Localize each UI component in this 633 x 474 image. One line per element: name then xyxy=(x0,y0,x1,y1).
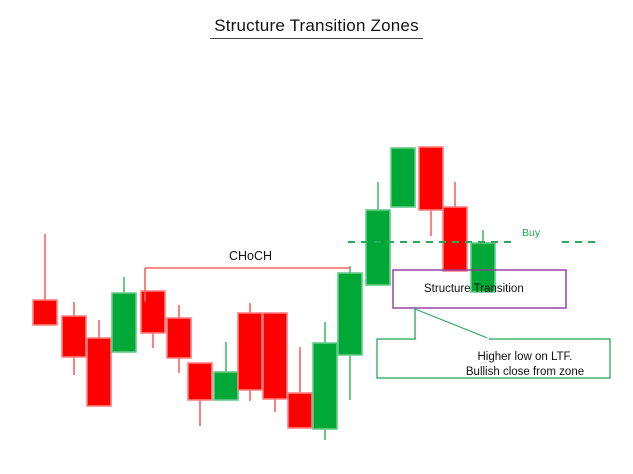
candle-17 xyxy=(443,182,467,271)
candle-body xyxy=(214,372,238,400)
chart-canvas: Structure Transition Zones CHoCH Buy Str… xyxy=(0,0,633,474)
callout-label: Higher low on LTF.Bullish close from zon… xyxy=(410,350,633,380)
candle-body xyxy=(391,148,415,207)
buy-label: Buy xyxy=(522,227,540,239)
callout-line-1: Higher low on LTF. xyxy=(477,351,572,363)
callout-leader xyxy=(415,309,490,339)
candle-body xyxy=(443,207,467,271)
callout-top-gap xyxy=(416,338,489,341)
candle-15 xyxy=(391,148,415,207)
candle-12 xyxy=(313,322,337,440)
candle-body xyxy=(419,147,443,210)
candle-body xyxy=(288,393,312,428)
candle-8 xyxy=(214,342,238,400)
candle-16 xyxy=(419,147,443,236)
callout-line-2: Bullish close from zone xyxy=(466,366,584,378)
candle-10 xyxy=(263,313,287,412)
candle-body xyxy=(62,316,86,357)
candle-body xyxy=(313,343,337,429)
candle-body xyxy=(188,363,212,400)
choch-label: CHoCH xyxy=(229,249,272,263)
candle-body xyxy=(112,293,136,352)
candle-13 xyxy=(338,266,362,400)
candle-4 xyxy=(112,277,136,352)
candle-body xyxy=(366,210,390,285)
candle-2 xyxy=(62,302,86,375)
candle-3 xyxy=(87,320,111,406)
candle-body xyxy=(338,273,362,355)
candle-body xyxy=(263,313,287,399)
candle-body xyxy=(87,338,111,406)
candle-7 xyxy=(188,363,212,426)
candle-14 xyxy=(366,182,390,285)
candle-body xyxy=(238,313,262,390)
candle-body xyxy=(167,318,191,358)
structure-transition-label: Structure Transition xyxy=(424,283,524,295)
level-choch xyxy=(145,268,350,302)
candle-body xyxy=(33,300,57,325)
candle-1 xyxy=(33,234,57,325)
candle-9 xyxy=(238,303,262,401)
candle-11 xyxy=(288,347,312,428)
